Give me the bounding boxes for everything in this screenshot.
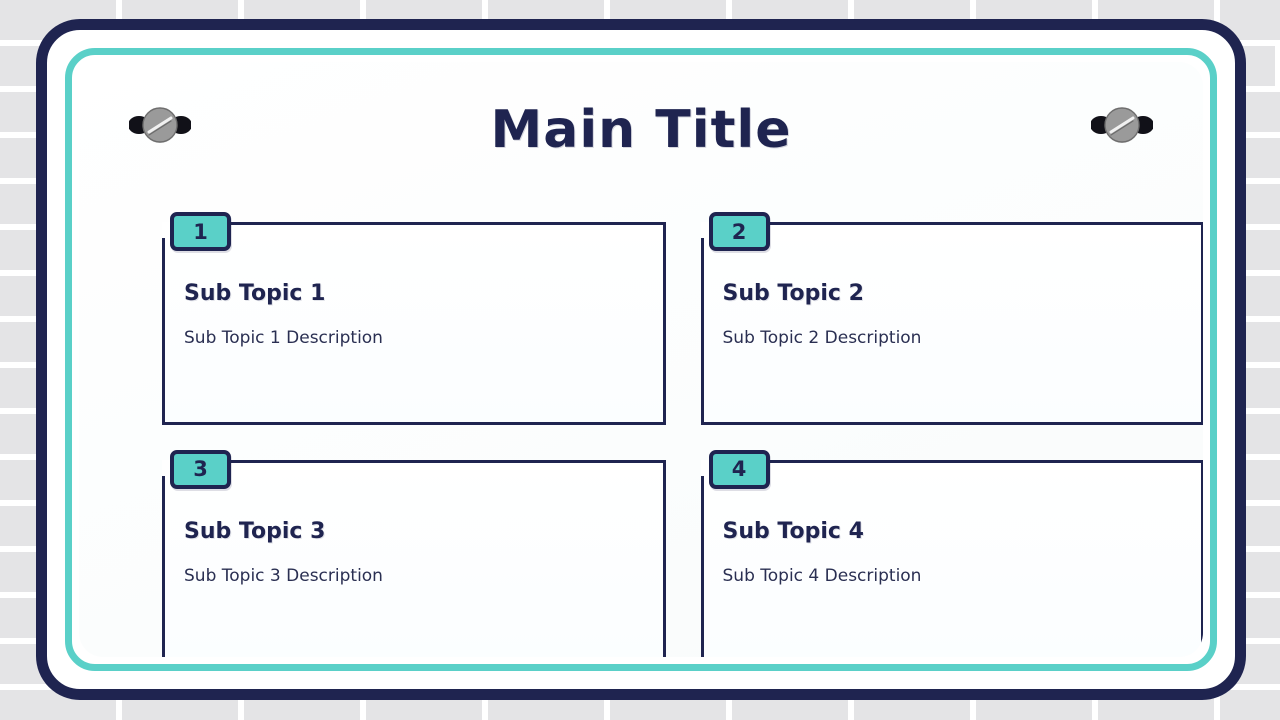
sub-topic-card-3[interactable]: 3 Sub Topic 3 Sub Topic 3 Description (162, 460, 666, 658)
card-description: Sub Topic 4 Description (723, 566, 1184, 586)
sub-topic-grid: 1 Sub Topic 1 Sub Topic 1 Description 2 … (162, 222, 1203, 657)
card-title: Sub Topic 3 (184, 519, 645, 544)
page-title: Main Title (79, 100, 1203, 160)
slide-content-area: Main Title 1 Sub Topic 1 Sub Topic 1 Des… (79, 62, 1203, 657)
card-number-badge: 2 (709, 212, 770, 251)
card-title: Sub Topic 2 (723, 281, 1184, 306)
card-title: Sub Topic 4 (723, 519, 1184, 544)
card-number-badge: 4 (709, 450, 770, 489)
outer-navy-frame: Main Title 1 Sub Topic 1 Sub Topic 1 Des… (36, 19, 1246, 700)
card-description: Sub Topic 3 Description (184, 566, 645, 586)
teal-accent-ring: Main Title 1 Sub Topic 1 Sub Topic 1 Des… (65, 48, 1217, 671)
sub-topic-card-4[interactable]: 4 Sub Topic 4 Sub Topic 4 Description (701, 460, 1204, 658)
sub-topic-card-2[interactable]: 2 Sub Topic 2 Sub Topic 2 Description (701, 222, 1204, 425)
card-description: Sub Topic 1 Description (184, 328, 645, 348)
sub-topic-card-1[interactable]: 1 Sub Topic 1 Sub Topic 1 Description (162, 222, 666, 425)
card-number-badge: 1 (170, 212, 231, 251)
card-description: Sub Topic 2 Description (723, 328, 1184, 348)
slide-canvas: Main Title 1 Sub Topic 1 Sub Topic 1 Des… (0, 0, 1280, 720)
card-title: Sub Topic 1 (184, 281, 645, 306)
card-number-badge: 3 (170, 450, 231, 489)
